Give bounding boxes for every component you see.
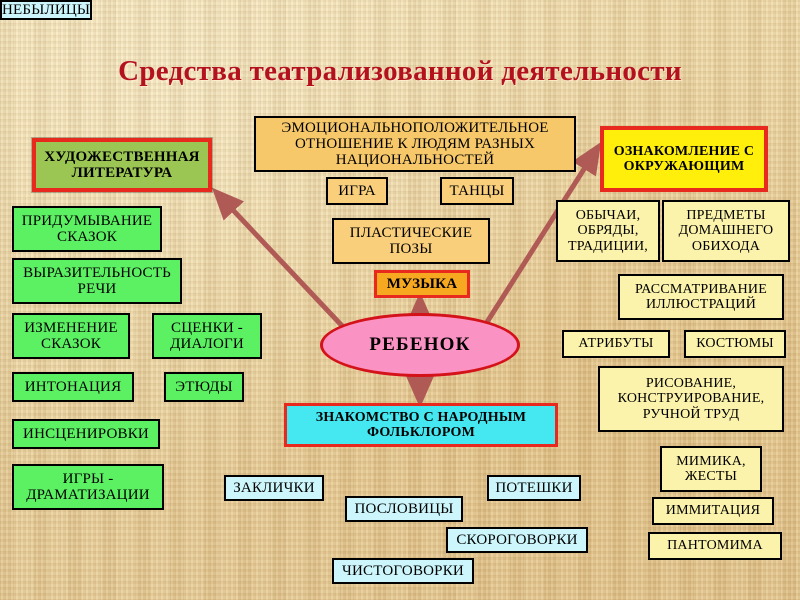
environment-item-predmety[interactable]: ПРЕДМЕТЫ ДОМАШНЕГО ОБИХОДА	[662, 200, 790, 262]
literature-item-igry-dramatizacii[interactable]: ИГРЫ - ДРАМАТИЗАЦИИ	[12, 464, 164, 510]
emotional-item-tancy[interactable]: ТАНЦЫ	[440, 177, 514, 205]
literature-item-vyrazitelnost[interactable]: ВЫРАЗИТЕЛЬНОСТЬ РЕЧИ	[12, 258, 182, 304]
branch-heading-emotional[interactable]: ЭМОЦИОНАЛЬНОПОЛОЖИТЕЛЬНОЕ ОТНОШЕНИЕ К ЛЮ…	[254, 116, 576, 172]
environment-item-atributy[interactable]: АТРИБУТЫ	[562, 330, 670, 358]
branch-heading-literature[interactable]: ХУДОЖЕСТВЕННАЯ ЛИТЕРАТУРА	[32, 138, 212, 192]
literature-item-pridumyvanie[interactable]: ПРИДУМЫВАНИЕ СКАЗОК	[12, 206, 162, 252]
folklore-item-poteshki[interactable]: ПОТЕШКИ	[487, 475, 581, 501]
branch-heading-folklore[interactable]: ЗНАКОМСТВО С НАРОДНЫМ ФОЛЬКЛОРОМ	[284, 403, 558, 447]
literature-item-scenki-dialogi[interactable]: СЦЕНКИ - ДИАЛОГИ	[152, 313, 262, 359]
emotional-item-igra[interactable]: ИГРА	[326, 177, 388, 205]
arrow-center-to-literature	[216, 192, 346, 330]
branch-heading-environment[interactable]: ОЗНАКОМЛЕНИЕ С ОКРУЖАЮЩИМ	[600, 126, 768, 192]
folklore-item-poslovicy[interactable]: ПОСЛОВИЦЫ	[345, 496, 463, 522]
environment-item-risovanie[interactable]: РИСОВАНИЕ, КОНСТРУИРОВАНИЕ, РУЧНОЙ ТРУД	[598, 366, 784, 432]
emotional-item-plasticheskie-pozy[interactable]: ПЛАСТИЧЕСКИЕ ПОЗЫ	[332, 218, 490, 264]
emotional-item-muzyka[interactable]: МУЗЫКА	[374, 270, 470, 298]
literature-item-etyudy[interactable]: ЭТЮДЫ	[164, 372, 244, 402]
environment-item-pantomima[interactable]: ПАНТОМИМА	[648, 532, 782, 560]
literature-item-inscenirovki[interactable]: ИНСЦЕНИРОВКИ	[12, 419, 160, 449]
folklore-item-zaklichki[interactable]: ЗАКЛИЧКИ	[224, 475, 324, 501]
folklore-item-chistogovorki[interactable]: ЧИСТОГОВОРКИ	[332, 558, 474, 584]
center-node-rebenok[interactable]: РЕБЕНОК	[320, 313, 520, 377]
literature-item-izmenenie[interactable]: ИЗМЕНЕНИЕ СКАЗОК	[12, 313, 130, 359]
environment-item-immitaciya[interactable]: ИММИТАЦИЯ	[652, 497, 774, 525]
diagram-canvas: Средства театрализованной деятельности Х…	[0, 0, 800, 600]
folklore-item-nebylicy[interactable]: НЕБЫЛИЦЫ	[0, 0, 92, 20]
page-title: Средства театрализованной деятельности	[40, 52, 760, 92]
environment-item-rassmatrivanie[interactable]: РАССМАТРИВАНИЕ ИЛЛЮСТРАЦИЙ	[618, 274, 784, 320]
literature-item-intonaciya[interactable]: ИНТОНАЦИЯ	[12, 372, 134, 402]
environment-item-mimika[interactable]: МИМИКА, ЖЕСТЫ	[660, 446, 762, 492]
folklore-item-skorogovorki[interactable]: СКОРОГОВОРКИ	[446, 527, 588, 553]
environment-item-obychai[interactable]: ОБЫЧАИ, ОБРЯДЫ, ТРАДИЦИИ,	[556, 200, 660, 262]
environment-item-kostyumy[interactable]: КОСТЮМЫ	[684, 330, 786, 358]
